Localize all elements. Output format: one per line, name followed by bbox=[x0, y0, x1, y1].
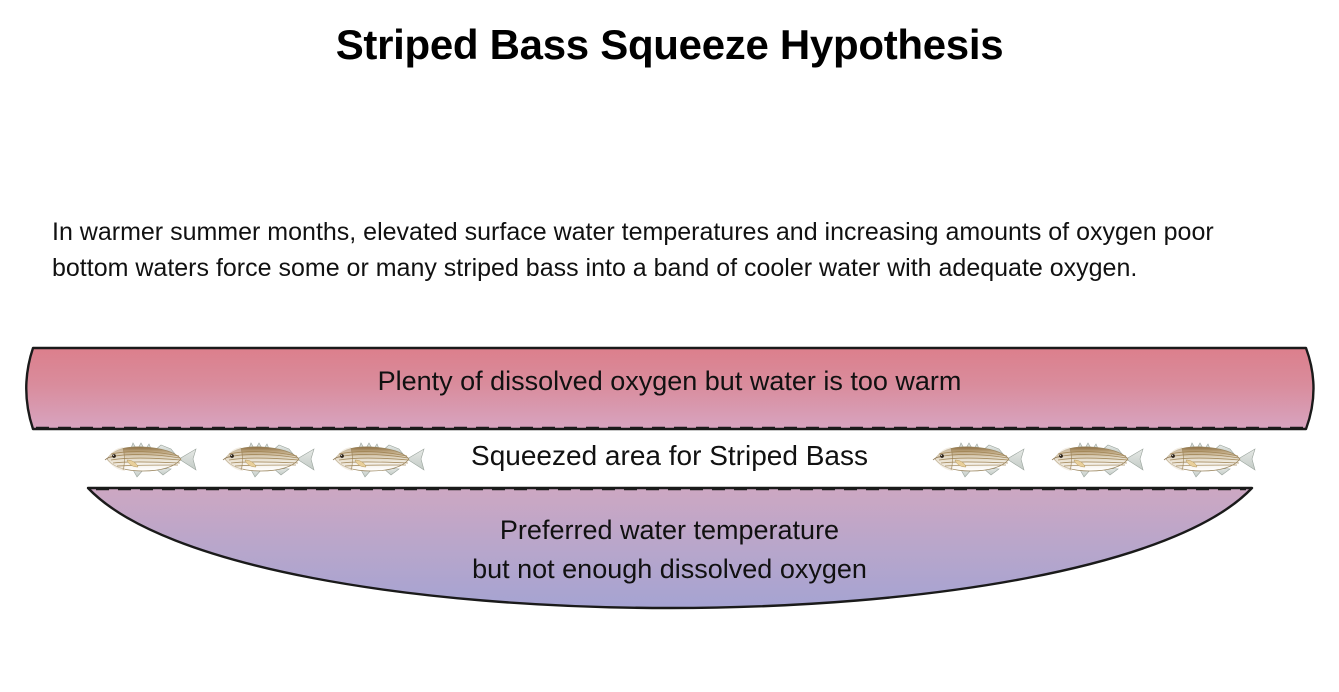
striped-bass-fish-icon bbox=[327, 438, 429, 482]
cold-layer-shape bbox=[88, 488, 1252, 608]
intro-paragraph: In warmer summer months, elevated surfac… bbox=[52, 215, 1292, 286]
striped-bass-fish-icon bbox=[99, 438, 201, 482]
striped-bass-fish-icon bbox=[1158, 438, 1260, 482]
page-title: Striped Bass Squeeze Hypothesis bbox=[0, 22, 1339, 68]
striped-bass-fish-icon bbox=[1046, 438, 1148, 482]
diagram-shapes bbox=[0, 330, 1339, 670]
striped-bass-fish-icon bbox=[217, 438, 319, 482]
striped-bass-squeeze-diagram: Plenty of dissolved oxygen but water is … bbox=[0, 330, 1339, 670]
striped-bass-fish-icon bbox=[927, 438, 1029, 482]
warm-layer-shape bbox=[26, 348, 1313, 429]
